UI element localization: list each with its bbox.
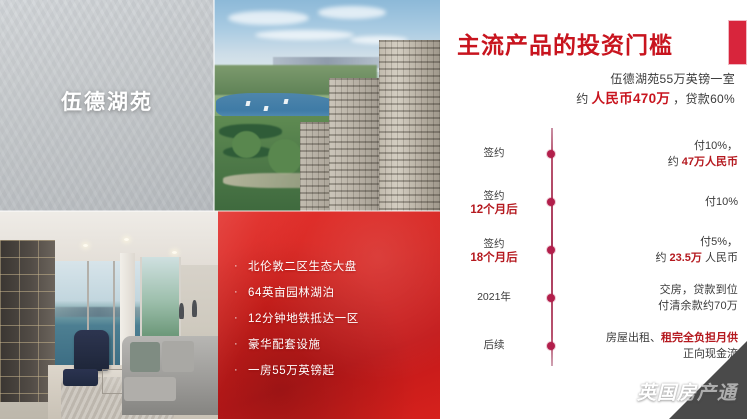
timeline-node <box>547 150 555 158</box>
list-item: · 一房55万英镑起 <box>234 357 430 383</box>
bookshelf <box>0 240 55 402</box>
highlight: 47万人民币 <box>682 156 738 168</box>
timeline-row-right: 付5%， 约 23.5万 人民币 <box>570 235 738 267</box>
sofa <box>122 336 218 415</box>
page-title: 主流产品的投资门槛 <box>457 26 673 60</box>
timeline-node <box>547 294 555 302</box>
watermark-text: 英国房产通 <box>637 378 737 405</box>
highlight: 23.5万 <box>670 252 702 264</box>
timeline-left-line-1: 签约 <box>448 146 540 160</box>
timeline-row-right: 付10% <box>570 195 738 211</box>
list-item-label: 12分钟地铁抵达一区 <box>248 310 359 326</box>
bullet-icon: · <box>234 286 248 298</box>
timeline-row-left: 2021年 <box>448 290 540 304</box>
content-pane: 主流产品的投资门槛 伍德湖苑55万英镑一室 约人民币470万，贷款60% 签约 … <box>440 0 747 419</box>
bullet-icon: · <box>234 312 248 324</box>
timeline-left-line-2: 18个月后 <box>448 251 540 267</box>
list-item-label: 豪华配套设施 <box>248 336 321 352</box>
timeline-row-left: 签约 <box>448 146 540 160</box>
list-item: · 12分钟地铁抵达一区 <box>234 305 430 331</box>
photo-collage: 伍德湖苑 <box>0 0 440 419</box>
timeline-row-left: 后续 <box>448 338 540 352</box>
photo-topright <box>214 0 440 211</box>
person <box>192 300 197 317</box>
list-item: · 豪华配套设施 <box>234 331 430 357</box>
subtitle-suffix: ，贷款60% <box>673 92 735 106</box>
tree <box>268 139 302 175</box>
project-name-label: 伍德湖苑 <box>0 86 214 116</box>
subtitle-line-2: 约人民币470万，贷款60% <box>480 89 735 110</box>
person <box>179 303 184 319</box>
timeline-right-line-1: 付10%， <box>570 139 738 155</box>
cushion <box>124 377 176 401</box>
timeline-left-line-1: 2021年 <box>448 290 540 304</box>
timeline-row-left: 签约 18个月后 <box>448 237 540 267</box>
list-item: · 北伦敦二区生态大盘 <box>234 253 430 279</box>
timeline-right-line-2: 约 23.5万 人民币 <box>570 251 738 267</box>
ottoman <box>63 369 98 386</box>
subtitle-highlight: 人民币470万 <box>589 91 674 106</box>
sailboat <box>245 101 250 106</box>
timeline-right-line-1: 付10% <box>570 195 738 211</box>
cushion <box>162 341 194 373</box>
timeline-right-line-2: 付清余款约70万 <box>570 299 738 315</box>
timeline-right-line-1: 交房，贷款到位 <box>570 283 738 299</box>
downlight <box>172 251 177 254</box>
panel-divider <box>0 210 440 212</box>
subtitle-line-1: 伍德湖苑55万英镑一室 <box>480 70 735 89</box>
apartment-tower <box>379 40 440 211</box>
photo-topleft: 伍德湖苑 <box>0 0 214 211</box>
armchair <box>74 330 109 372</box>
apartment-tower <box>329 78 383 211</box>
presentation-slide: 伍德湖苑 <box>0 0 747 419</box>
subtitle-block: 伍德湖苑55万英镑一室 约人民币470万，贷款60% <box>480 70 735 110</box>
timeline-row-left: 签约 12个月后 <box>448 189 540 219</box>
timeline-left-line-1: 后续 <box>448 338 540 352</box>
timeline-row-right: 交房，贷款到位 付清余款约70万 <box>570 283 738 315</box>
timeline-right-line-1: 付5%， <box>570 235 738 251</box>
timeline-node <box>547 246 555 254</box>
prefix: 房屋出租、 <box>606 332 661 344</box>
prefix: 约 <box>668 156 682 168</box>
red-feature-panel: · 北伦敦二区生态大盘 · 64英亩园林湖泊 · 12分钟地铁抵达一区 · 豪华… <box>218 211 440 419</box>
cushion <box>130 342 160 372</box>
bullet-icon: · <box>234 364 248 376</box>
panel-divider <box>213 0 215 211</box>
sailboat <box>263 106 268 111</box>
prefix: 约 <box>655 252 669 264</box>
cloud <box>228 11 309 26</box>
list-item: · 64英亩园林湖泊 <box>234 279 430 305</box>
bullet-icon: · <box>234 338 248 350</box>
watermark: 英国房产通 <box>609 378 737 405</box>
timeline-row-right: 付10%， 约 47万人民币 <box>570 139 738 171</box>
list-item-label: 北伦敦二区生态大盘 <box>248 258 357 274</box>
window-mullion <box>113 261 115 365</box>
timeline-left-line-1: 签约 <box>448 189 540 203</box>
photo-interior <box>0 211 218 419</box>
timeline-node <box>547 198 555 206</box>
timeline-left-line-2: 12个月后 <box>448 203 540 219</box>
list-item-label: 64英亩园林湖泊 <box>248 284 335 300</box>
feature-list: · 北伦敦二区生态大盘 · 64英亩园林湖泊 · 12分钟地铁抵达一区 · 豪华… <box>234 253 430 383</box>
title-accent-bar <box>728 20 747 65</box>
timeline-right-line-2: 约 47万人民币 <box>570 155 738 171</box>
cloud <box>255 30 354 41</box>
subtitle-prefix: 约 <box>576 92 588 106</box>
bullet-icon: · <box>234 260 248 272</box>
list-item-label: 一房55万英镑起 <box>248 362 335 378</box>
payment-timeline: 签约 付10%， 约 47万人民币 签约 12个月后 付10% <box>440 128 747 368</box>
timeline-left-line-1: 签约 <box>448 237 540 251</box>
suffix: 人民币 <box>702 252 738 264</box>
wechat-icon <box>609 383 631 401</box>
cloud <box>318 6 386 19</box>
